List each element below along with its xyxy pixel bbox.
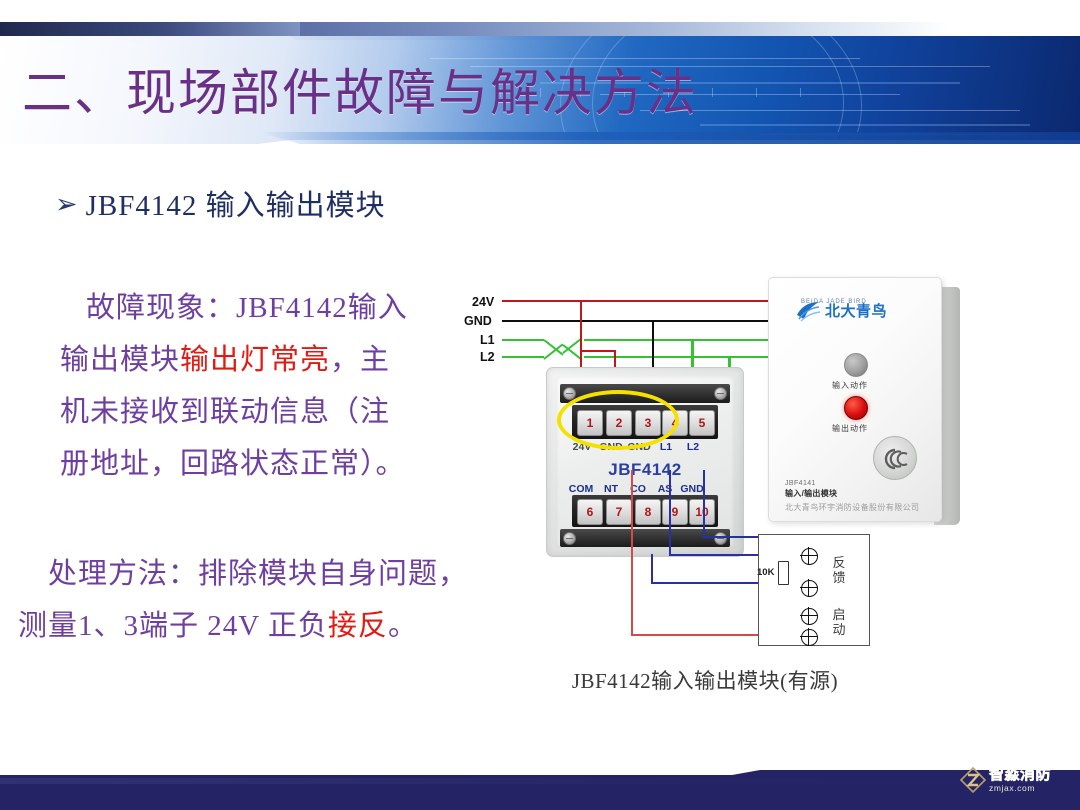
- wire-co-drop: [631, 526, 633, 636]
- diagram-caption: JBF4142输入输出模块(有源): [520, 665, 890, 695]
- watermark-logo-icon: [960, 767, 986, 793]
- wire-l2-left: [502, 356, 544, 358]
- resistor-10k: [778, 561, 789, 585]
- fault-line-3: 机未接收到联动信息（注: [60, 386, 480, 438]
- terminal-5-num: 5: [699, 417, 706, 429]
- load-terminal-3[interactable]: [801, 608, 818, 625]
- fault-line-1: 故障现象：JBF4142输入: [60, 282, 480, 334]
- wire-aux-down: [651, 554, 653, 584]
- resistor-label: 10K: [757, 567, 774, 578]
- slide-root: 二、现场部件故障与解决方法 ➢ JBF4142 输入输出模块 故障现象：JBF4…: [0, 0, 1080, 810]
- load-terminal-2[interactable]: [801, 580, 818, 597]
- terminal-10-num: 10: [695, 506, 708, 518]
- load-terminal-4[interactable]: [801, 629, 818, 646]
- terminal-5-label: L2: [678, 441, 708, 453]
- page-title: 二、现场部件故障与解决方法: [22, 68, 698, 118]
- product-front-face: 北大青鸟 BEIDA JADE BIRD 输入动作 输出动作 JBF4141 输…: [768, 277, 942, 522]
- fix-line-2a: 测量1、3端子 24V 正负: [18, 610, 328, 642]
- watermark-site: zmjax.com: [989, 784, 1051, 793]
- wire-24v-jog: [580, 350, 616, 352]
- clamp-screw-bl: [563, 532, 576, 545]
- bus-label-l1: L1: [480, 333, 495, 347]
- wire-co-stub: [631, 470, 633, 528]
- title-banner: 二、现场部件故障与解决方法: [0, 0, 1080, 150]
- brand-name-en: BEIDA JADE BIRD: [801, 299, 867, 305]
- bullet-heading: ➢ JBF4142 输入输出模块: [55, 182, 386, 224]
- terminal-5[interactable]: 5: [689, 410, 715, 436]
- bus-label-l2: L2: [480, 350, 495, 364]
- brand-name-cn: 北大青鸟: [825, 304, 887, 319]
- watermark-text: 智淼消防 zmjax.com: [989, 767, 1051, 793]
- fix-description: 处理方法：排除模块自身问题， 测量1、3端子 24V 正负接反。: [18, 548, 518, 652]
- fix-line-2b: 。: [388, 610, 418, 642]
- external-load-box: 10K 反馈 启动: [758, 534, 870, 646]
- load-label-feedback: 反馈: [831, 555, 847, 585]
- terminal-7-label: NT: [596, 483, 626, 495]
- wire-l1-left: [502, 339, 544, 341]
- input-action-led: [844, 353, 868, 377]
- watermark: 智淼消防 zmjax.com: [960, 767, 1051, 793]
- wire-gnd2-drop: [703, 470, 705, 538]
- fault-highlight: 输出灯常亮: [180, 344, 330, 376]
- wire-24v-drop: [580, 300, 582, 352]
- output-action-label: 输出动作: [832, 423, 868, 434]
- terminal-10[interactable]: 10: [689, 499, 715, 525]
- banner-top-strip-dark: [0, 22, 300, 36]
- footer-bar: [0, 770, 1080, 810]
- terminal-6-label: COM: [565, 483, 597, 495]
- terminal-7-num: 7: [616, 506, 623, 518]
- fault-line-2b: ，主: [330, 344, 390, 376]
- module-model-name: JBF4142: [556, 460, 734, 480]
- terminal-8-label: CO: [623, 483, 653, 495]
- wire-as-drop: [669, 470, 671, 556]
- fault-line-2a: 输出模块: [60, 344, 180, 376]
- bottom-terminal-block: 6 7 8 9 10: [572, 495, 718, 527]
- product-model-name: 输入/输出模块: [785, 488, 837, 499]
- fault-description: 故障现象：JBF4142输入 输出模块输出灯常亮，主 机未接收到联动信息（注 册…: [60, 282, 480, 490]
- fix-line-1: 处理方法：排除模块自身问题，: [18, 548, 518, 600]
- product-model-code: JBF4141: [785, 480, 816, 487]
- clamp-screw-br: [714, 532, 727, 545]
- ccc-certification-icon: [873, 436, 917, 480]
- input-action-label: 输入动作: [832, 380, 868, 391]
- terminal-7[interactable]: 7: [606, 499, 632, 525]
- bullet-arrow-icon: ➢: [55, 191, 78, 218]
- terminal-6-num: 6: [587, 506, 594, 518]
- terminal-8[interactable]: 8: [635, 499, 661, 525]
- fault-line-4: 册地址，回路状态正常）。: [60, 438, 480, 490]
- highlight-ellipse: [557, 390, 679, 450]
- footer-highlight-band: [0, 778, 1080, 784]
- terminal-8-num: 8: [645, 506, 652, 518]
- bus-label-24v: 24V: [472, 295, 494, 309]
- product-company-name: 北大青鸟环宇消防设备股份有限公司: [785, 502, 919, 513]
- product-photo: 北大青鸟 BEIDA JADE BIRD 输入动作 输出动作 JBF4141 输…: [768, 277, 960, 525]
- load-terminal-1[interactable]: [801, 548, 818, 565]
- terminal-6[interactable]: 6: [577, 499, 603, 525]
- bus-label-gnd: GND: [464, 314, 492, 328]
- output-action-led: [844, 396, 868, 420]
- clamp-screw-tr: [714, 387, 727, 400]
- bullet-heading-label: JBF4142 输入输出模块: [86, 182, 386, 224]
- terminal-9-num: 9: [672, 506, 679, 518]
- watermark-name: 智淼消防: [989, 767, 1051, 782]
- terminal-9[interactable]: 9: [662, 499, 688, 525]
- fix-highlight: 接反: [328, 610, 388, 642]
- load-label-start: 启动: [831, 607, 847, 637]
